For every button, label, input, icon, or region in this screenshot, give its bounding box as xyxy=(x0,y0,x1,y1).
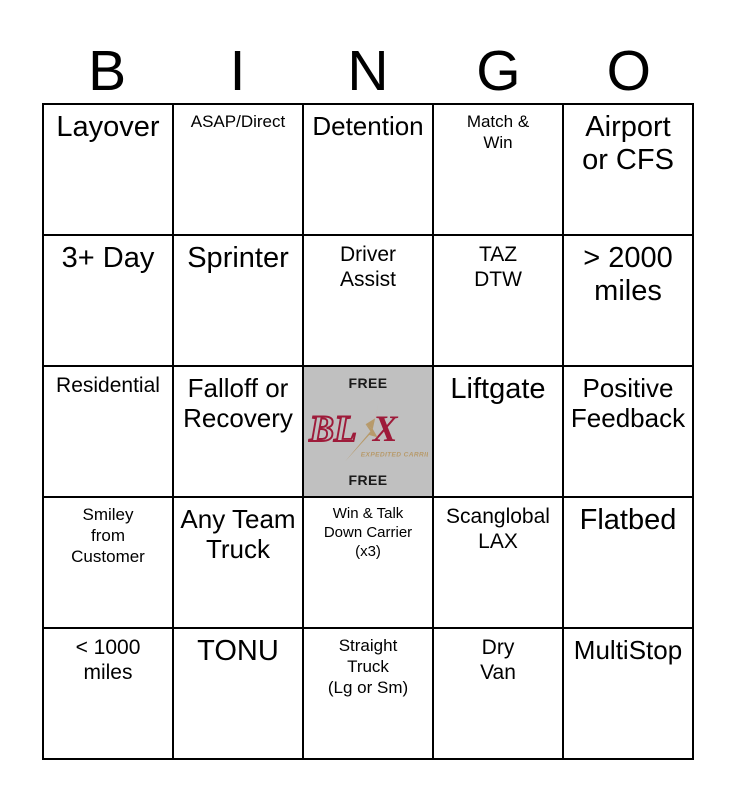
bingo-cell[interactable]: Smiley from Customer xyxy=(44,498,174,629)
bingo-cell-label: Dry Van xyxy=(439,635,557,685)
bingo-header-letter-i: I xyxy=(172,38,302,104)
bingo-cell-label: Residential xyxy=(49,373,167,398)
bingo-cell[interactable]: Positive Feedback xyxy=(564,367,694,498)
bingo-cell-label: Flatbed xyxy=(569,504,687,537)
bingo-cell-label: > 2000 miles xyxy=(569,242,687,308)
bingo-cell[interactable]: Sprinter xyxy=(174,236,304,367)
bingo-cell[interactable]: Falloff or Recovery xyxy=(174,367,304,498)
bingo-cell[interactable]: Match & Win xyxy=(434,105,564,236)
bingo-cell[interactable]: < 1000 miles xyxy=(44,629,174,760)
bingo-header-letter-n: N xyxy=(303,38,433,104)
bingo-cell[interactable]: TAZ DTW xyxy=(434,236,564,367)
bingo-grid: LayoverASAP/DirectDetentionMatch & WinAi… xyxy=(42,103,694,760)
free-label-bottom: FREE xyxy=(349,473,388,487)
bingo-cell-label: Match & Win xyxy=(439,111,557,153)
bingo-cell-label: Sprinter xyxy=(179,242,297,275)
blx-expedited-carriers-logo: BLXEXPEDITED CARRIERS xyxy=(308,390,428,473)
bingo-cell-label: Smiley from Customer xyxy=(49,504,167,567)
bingo-cell-label: Falloff or Recovery xyxy=(179,373,297,433)
blx-tagline: EXPEDITED CARRIERS xyxy=(361,451,428,458)
bingo-cell-label: Positive Feedback xyxy=(569,373,687,433)
blx-logo-svg: BLXEXPEDITED CARRIERS xyxy=(308,399,428,465)
bingo-cell-free[interactable]: FREEBLXEXPEDITED CARRIERSFREE xyxy=(304,367,434,498)
bingo-cell-label: MultiStop xyxy=(569,635,687,665)
bingo-cell[interactable]: Win & Talk Down Carrier (x3) xyxy=(304,498,434,629)
bingo-cell-label: < 1000 miles xyxy=(49,635,167,685)
bingo-cell[interactable]: Flatbed xyxy=(564,498,694,629)
bingo-cell-label: ASAP/Direct xyxy=(179,111,297,132)
bingo-cell[interactable]: Airport or CFS xyxy=(564,105,694,236)
bingo-cell[interactable]: Scanglobal LAX xyxy=(434,498,564,629)
bingo-cell[interactable]: Driver Assist xyxy=(304,236,434,367)
bingo-cell-label: TAZ DTW xyxy=(439,242,557,292)
bingo-header-letter-g: G xyxy=(433,38,563,104)
bingo-cell[interactable]: Detention xyxy=(304,105,434,236)
bingo-cell[interactable]: Layover xyxy=(44,105,174,236)
bingo-card: BINGO LayoverASAP/DirectDetentionMatch &… xyxy=(0,0,736,800)
bingo-cell[interactable]: TONU xyxy=(174,629,304,760)
bingo-cell[interactable]: 3+ Day xyxy=(44,236,174,367)
bingo-cell[interactable]: Dry Van xyxy=(434,629,564,760)
blx-wordmark-outline: BL xyxy=(308,409,357,450)
free-space-content: FREEBLXEXPEDITED CARRIERSFREE xyxy=(304,367,432,496)
bingo-cell-label: Driver Assist xyxy=(309,242,427,292)
free-label-top: FREE xyxy=(349,376,388,390)
bingo-cell-label: 3+ Day xyxy=(49,242,167,275)
bingo-cell[interactable]: Any Team Truck xyxy=(174,498,304,629)
bingo-cell[interactable]: > 2000 miles xyxy=(564,236,694,367)
bingo-cell-label: Any Team Truck xyxy=(179,504,297,564)
bingo-cell-label: Scanglobal LAX xyxy=(439,504,557,554)
bingo-cell[interactable]: Residential xyxy=(44,367,174,498)
bingo-cell-label: TONU xyxy=(179,635,297,668)
bingo-cell-label: Win & Talk Down Carrier (x3) xyxy=(309,504,427,562)
bingo-cell-label: Liftgate xyxy=(439,373,557,406)
bingo-header-row: BINGO xyxy=(42,38,694,104)
bingo-cell-label: Airport or CFS xyxy=(569,111,687,177)
bingo-header-letter-b: B xyxy=(42,38,172,104)
bingo-cell[interactable]: ASAP/Direct xyxy=(174,105,304,236)
bingo-cell[interactable]: Straight Truck (Lg or Sm) xyxy=(304,629,434,760)
bingo-cell-label: Detention xyxy=(309,111,427,141)
bingo-cell[interactable]: Liftgate xyxy=(434,367,564,498)
bingo-cell[interactable]: MultiStop xyxy=(564,629,694,760)
bingo-cell-label: Straight Truck (Lg or Sm) xyxy=(309,635,427,698)
bingo-header-letter-o: O xyxy=(564,38,694,104)
bingo-cell-label: Layover xyxy=(49,111,167,144)
